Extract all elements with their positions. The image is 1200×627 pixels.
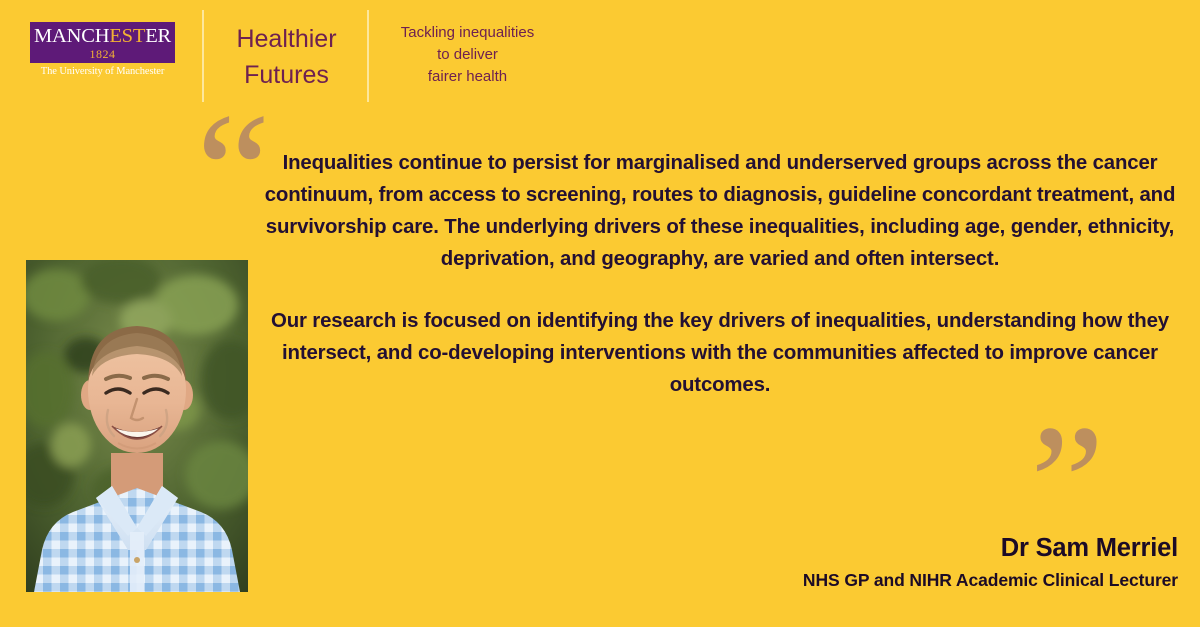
logo-wordmark-box: MANCHESTER 1824 — [30, 22, 175, 63]
tagline-line-1: Tackling inequalities — [380, 22, 555, 44]
logo-wordmark: MANCHESTER — [34, 26, 171, 47]
logo-subtitle: The University of Manchester — [30, 66, 175, 77]
brand-name-line-1: Healthier — [214, 22, 359, 58]
portrait-illustration — [26, 260, 248, 592]
quote-paragraph-2: Our research is focused on identifying t… — [260, 306, 1180, 402]
logo-wordmark-post: ER — [145, 25, 171, 47]
portrait-photo — [26, 260, 248, 592]
attribution-name: Dr Sam Merriel — [538, 534, 1178, 563]
header-banner: MANCHESTER 1824 The University of Manche… — [0, 0, 1200, 112]
brand-tagline: Tackling inequalities to deliver fairer … — [380, 22, 555, 89]
header-divider-right — [367, 10, 369, 102]
quote-paragraph-1: Inequalities continue to persist for mar… — [260, 148, 1180, 276]
attribution-block: Dr Sam Merriel NHS GP and NIHR Academic … — [538, 534, 1178, 591]
tagline-line-2: to deliver — [380, 44, 555, 66]
logo-founding-year: 1824 — [34, 48, 171, 60]
attribution-role: NHS GP and NIHR Academic Clinical Lectur… — [538, 570, 1178, 591]
quote-block: Inequalities continue to persist for mar… — [260, 148, 1180, 401]
tagline-line-3: fairer health — [380, 66, 555, 88]
university-of-manchester-logo: MANCHESTER 1824 The University of Manche… — [30, 22, 175, 77]
logo-wordmark-pre: MANCH — [34, 25, 109, 47]
logo-wordmark-highlight: EST — [109, 25, 145, 47]
opening-quotation-mark-icon: “ — [196, 88, 267, 256]
